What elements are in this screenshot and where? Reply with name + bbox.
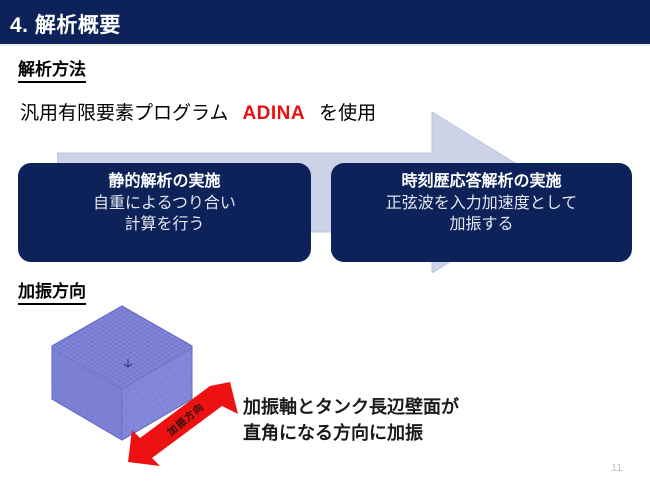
process-box-title: 静的解析の実施: [18, 171, 311, 193]
header-divider: [0, 44, 650, 46]
process-box-static-analysis[interactable]: 静的解析の実施 自重によるつり合い 計算を行う: [18, 163, 311, 262]
page-title: 4. 解析概要: [10, 9, 121, 39]
process-box-line-2: 計算を行う: [18, 214, 311, 235]
axis-triad-icon: [122, 357, 134, 369]
section-heading-method: 解析方法: [18, 60, 86, 83]
process-box-line-1: 正弦波を入力加速度として: [331, 193, 632, 214]
model-caption-line-1: 加振軸とタンク長辺壁面が: [243, 394, 459, 420]
page-number: 11: [611, 462, 622, 474]
process-box-line-1: 自重によるつり合い: [18, 193, 311, 214]
process-box-title: 時刻歴応答解析の実施: [331, 171, 632, 193]
slide-canvas: 4. 解析概要 解析方法 汎用有限要素プログラムADINAを使用 静的解析の実施…: [0, 0, 650, 487]
model-caption-line-2: 直角になる方向に加振: [243, 420, 459, 446]
process-box-time-history-analysis[interactable]: 時刻歴応答解析の実施 正弦波を入力加速度として 加振する: [331, 163, 632, 262]
model-caption: 加振軸とタンク長辺壁面が 直角になる方向に加振: [243, 394, 459, 446]
process-box-line-2: 加振する: [331, 214, 632, 235]
